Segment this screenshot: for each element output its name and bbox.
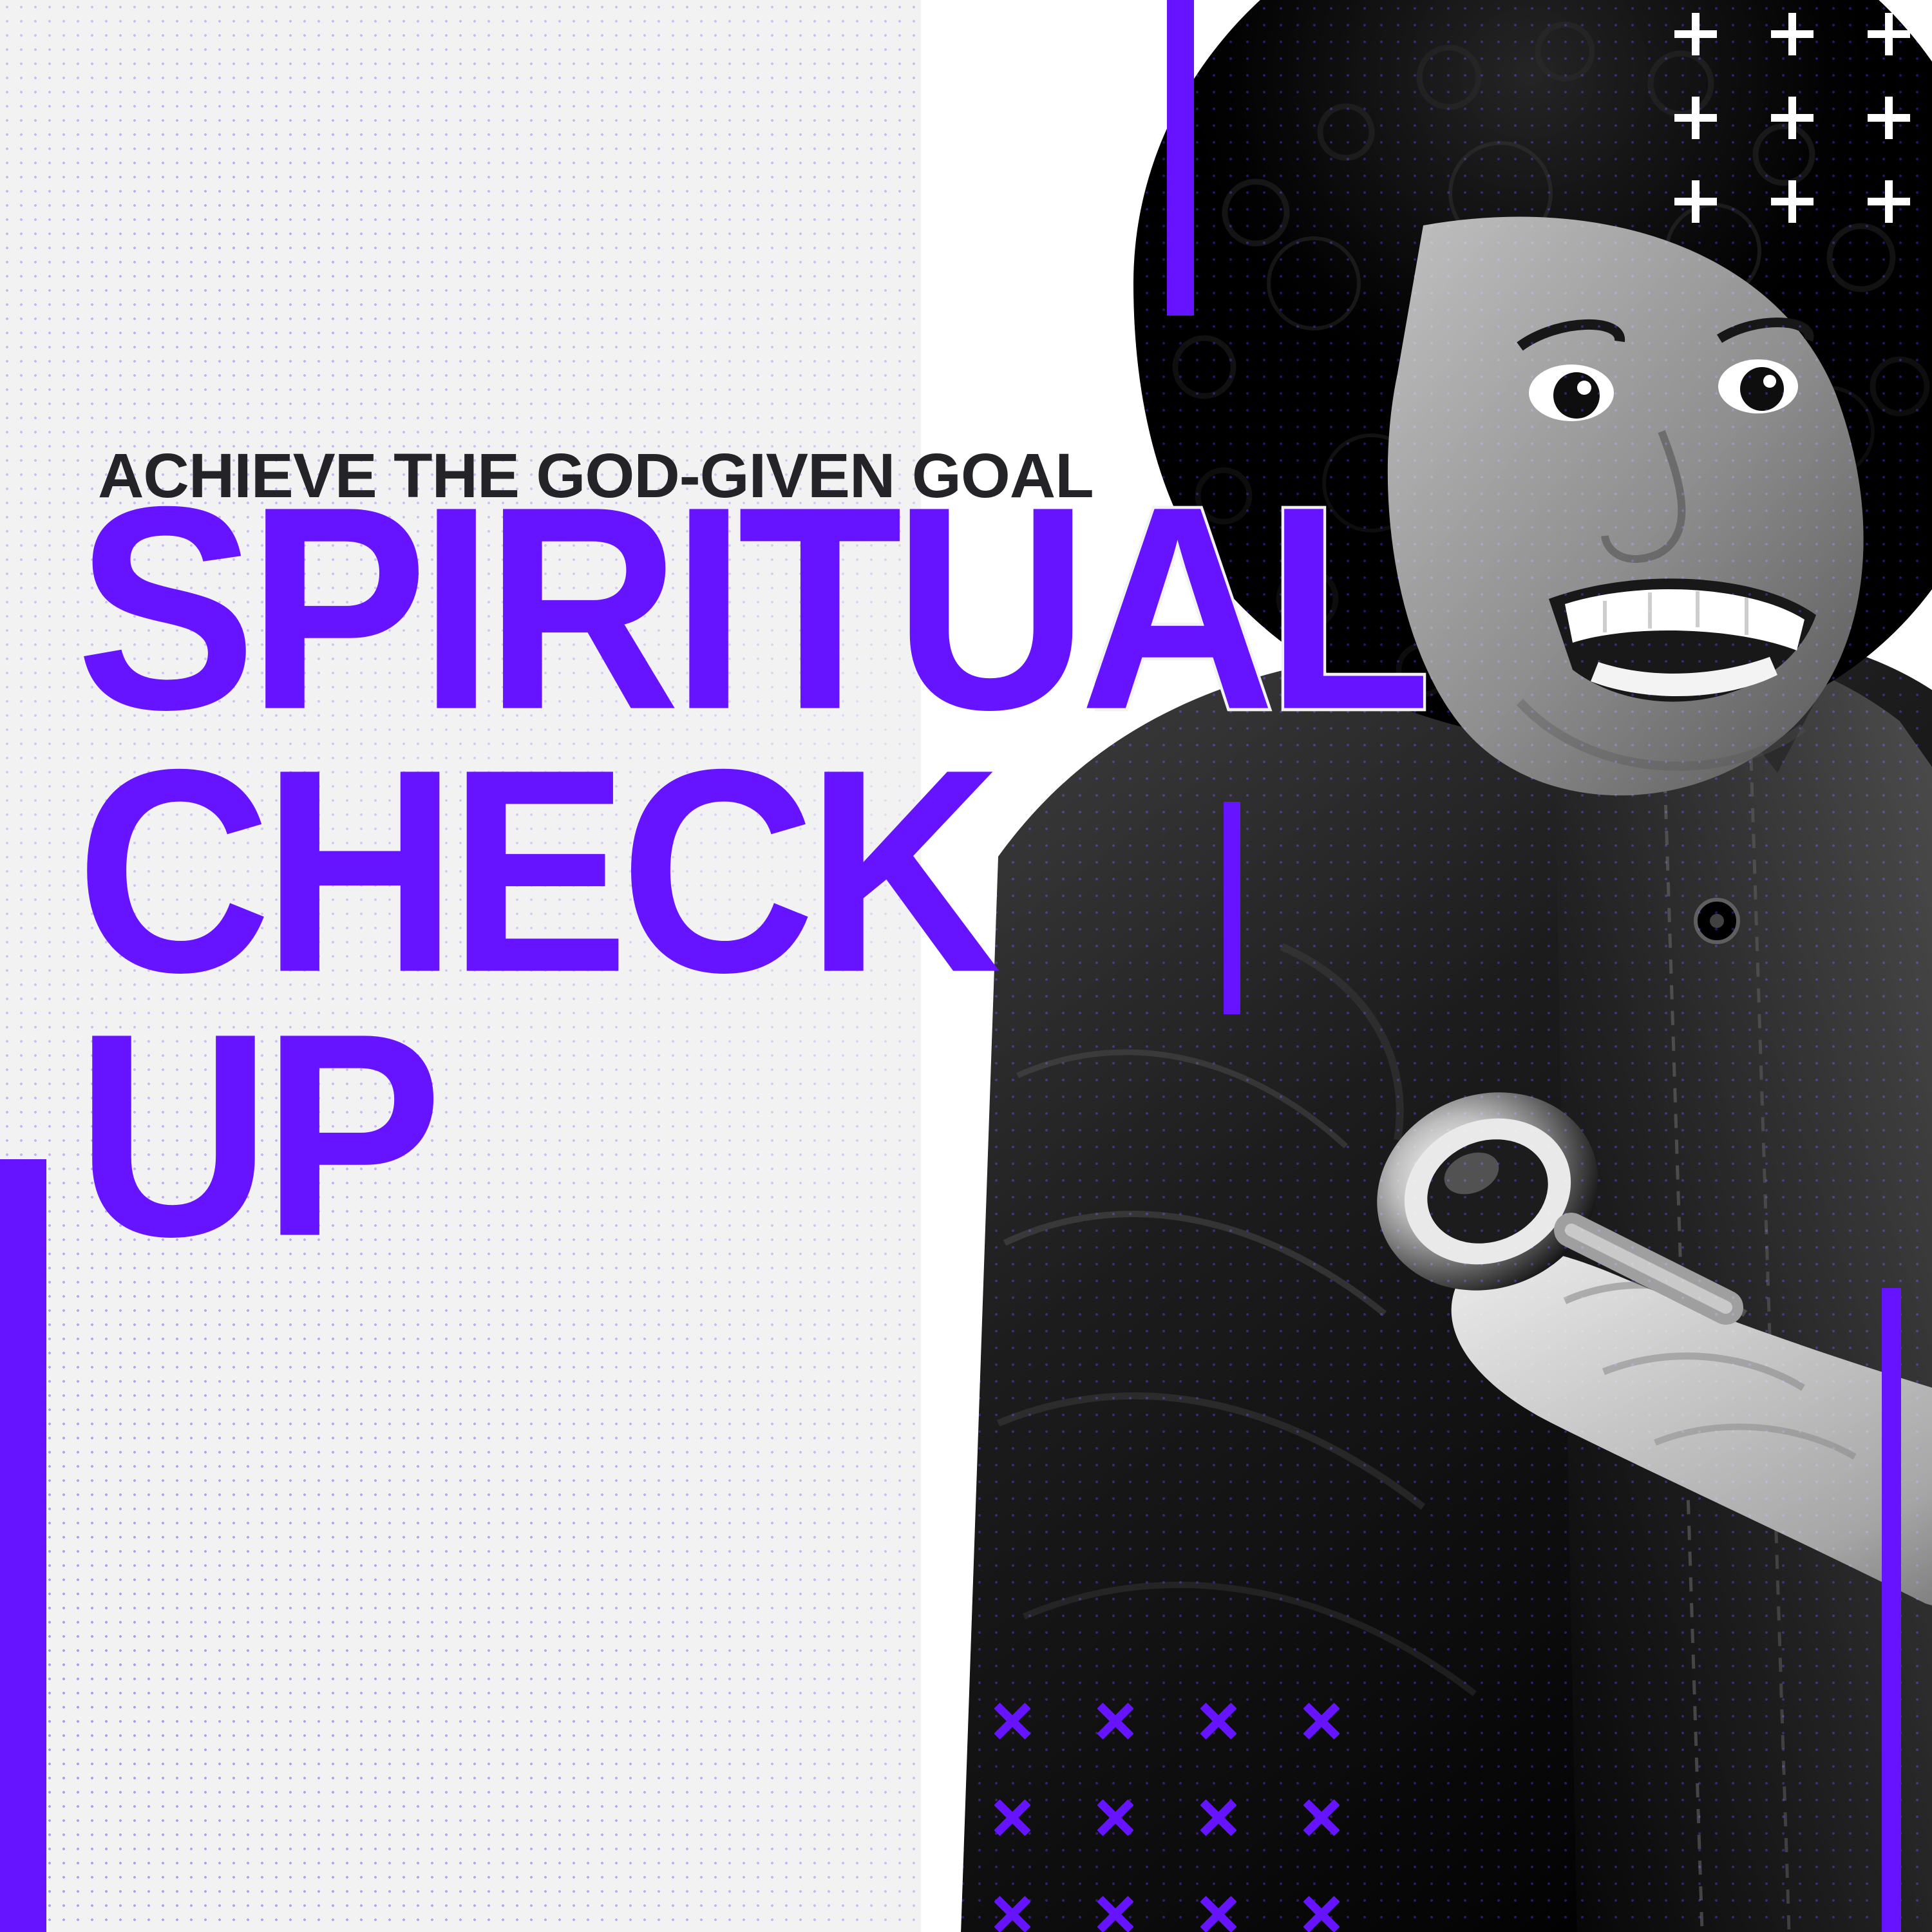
x-icon bbox=[1095, 1797, 1136, 1838]
child-stethoscope-photo bbox=[921, 0, 1932, 1932]
x-icon bbox=[1095, 1893, 1136, 1932]
x-icon bbox=[1301, 1893, 1342, 1932]
plus-icon bbox=[1674, 97, 1717, 139]
plus-icon bbox=[1771, 180, 1814, 223]
decor-bar-right-edge bbox=[1882, 1288, 1901, 1932]
plus-icon bbox=[1868, 13, 1910, 55]
x-icon bbox=[992, 1700, 1033, 1741]
decor-bar-mid-right bbox=[1224, 802, 1240, 1014]
plus-icon bbox=[1868, 180, 1910, 223]
x-icon bbox=[1198, 1893, 1239, 1932]
x-icon bbox=[1095, 1700, 1136, 1741]
plus-icon bbox=[1771, 97, 1814, 139]
decor-bar-left-edge bbox=[0, 1159, 46, 1932]
plus-icon bbox=[1868, 97, 1910, 139]
x-icon bbox=[1301, 1700, 1342, 1741]
plus-icon bbox=[1771, 13, 1814, 55]
poster-canvas: SPIRITUAL CHECK ACHIEVE THE GOD-GIVEN GO… bbox=[0, 0, 1932, 1932]
x-icon bbox=[1198, 1700, 1239, 1741]
decor-bar-top-middle bbox=[1167, 0, 1194, 316]
x-icon bbox=[992, 1893, 1033, 1932]
plus-icon bbox=[1674, 180, 1717, 223]
x-icon bbox=[992, 1797, 1033, 1838]
plus-icon bbox=[1674, 13, 1717, 55]
x-icon bbox=[1198, 1797, 1239, 1838]
x-icon bbox=[1301, 1797, 1342, 1838]
